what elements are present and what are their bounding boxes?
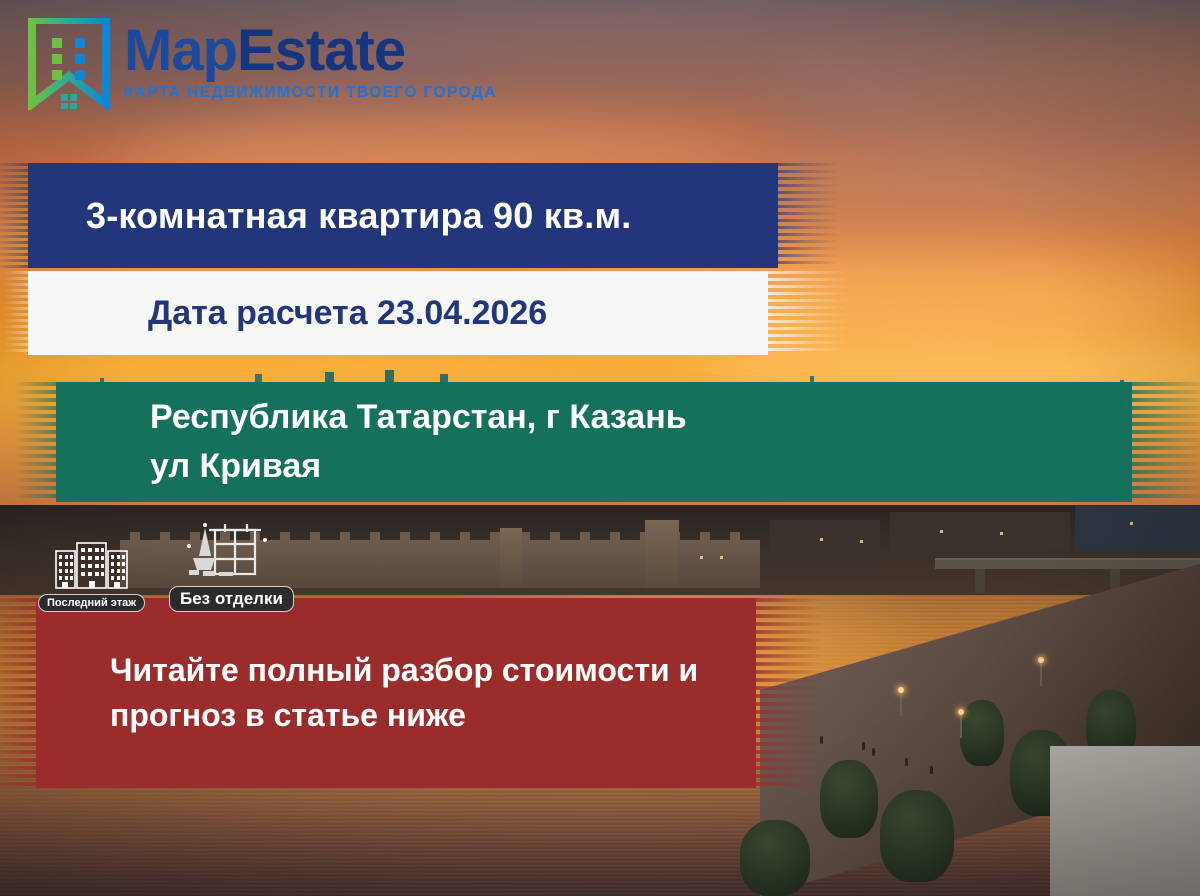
property-promo-poster: MapEstate КАРТА НЕДВИЖИМОСТИ ТВОЕГО ГОРО…: [0, 0, 1200, 896]
badge-label-no-finishing: Без отделки: [169, 586, 294, 612]
brand-name-part2: Estate: [237, 18, 405, 83]
calculation-date-banner: Дата расчета 23.04.2026: [18, 271, 838, 355]
construction-scaffolding-icon: [181, 522, 281, 584]
bridge: [935, 560, 1200, 569]
brand-logo[interactable]: MapEstate КАРТА НЕДВИЖИМОСТИ ТВОЕГО ГОРО…: [28, 18, 497, 110]
building: [770, 520, 880, 562]
feature-badges: Последний этаж: [38, 522, 294, 612]
brush-edge-right: [718, 271, 848, 355]
map-estate-bookmark-logo-icon: [28, 18, 110, 110]
tree: [820, 760, 878, 838]
badge-last-floor[interactable]: Последний этаж: [38, 538, 145, 612]
brand-tagline: КАРТА НЕДВИЖИМОСТИ ТВОЕГО ГОРОДА: [124, 84, 497, 102]
brush-edge-right: [718, 163, 838, 268]
calculation-date: Дата расчета 23.04.2026: [148, 294, 547, 333]
brand-name-part1: Map: [124, 18, 237, 83]
kremlin-tower: [645, 520, 679, 588]
brush-edge-right: [1080, 382, 1200, 502]
tree: [740, 820, 810, 896]
location-text: Республика Татарстан, г Казань ул Кривая: [150, 393, 687, 492]
cta-banner[interactable]: Читайте полный разбор стоимости и прогно…: [12, 598, 802, 788]
kremlin-tower: [500, 528, 522, 588]
location-banner: Республика Татарстан, г Казань ул Кривая: [20, 382, 1200, 502]
cta-text: Читайте полный разбор стоимости и прогно…: [110, 648, 730, 739]
property-title: 3-комнатная квартира 90 кв.м.: [86, 195, 631, 237]
tree: [880, 790, 954, 882]
badge-label-last-floor: Последний этаж: [38, 594, 145, 612]
building: [890, 512, 1070, 550]
tree: [960, 700, 1004, 766]
location-line-2: ул Кривая: [150, 442, 687, 491]
badge-no-finishing[interactable]: Без отделки: [169, 522, 294, 612]
building: [1050, 746, 1200, 896]
apartment-building-icon: [53, 538, 131, 592]
building: [1075, 505, 1200, 551]
property-title-banner: 3-комнатная квартира 90 кв.м.: [28, 163, 838, 268]
location-line-1: Республика Татарстан, г Казань: [150, 393, 687, 442]
brand-name: MapEstate: [124, 22, 497, 80]
